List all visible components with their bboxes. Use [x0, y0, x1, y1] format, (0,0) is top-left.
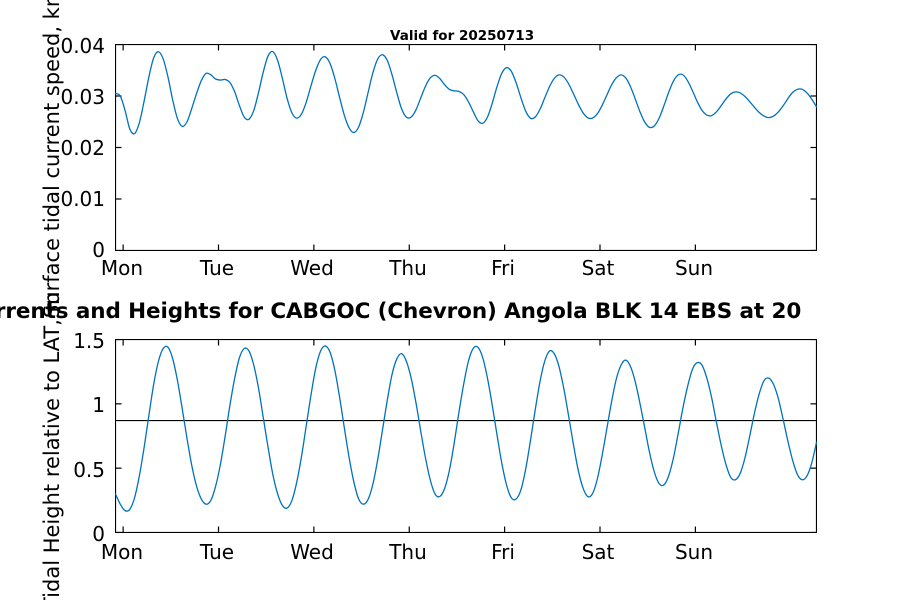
bottom-xtick-sun: Sun [654, 540, 734, 564]
top-xtick-thu: Thu [368, 256, 448, 280]
bottom-xtick-fri: Fri [463, 540, 543, 564]
bottom-ytick-0.5: 0.5 [30, 458, 105, 482]
top-series-line [116, 52, 817, 134]
top-xtick-fri: Fri [463, 256, 543, 280]
top-axis-ticks [116, 45, 817, 251]
top-xtick-sat: Sat [558, 256, 638, 280]
bottom-xtick-sat: Sat [558, 540, 638, 564]
bottom-chart-plot-area [115, 339, 817, 533]
bottom-chart-panel: 1.5 1 0.5 0 Mon Tue Wed Thu Fri Sat Sun [0, 300, 900, 600]
top-chart-panel: Valid for 20250713 0.04 0.03 0.02 0.01 0… [0, 0, 900, 290]
top-xtick-mon: Mon [82, 256, 162, 280]
top-chart-ylabel: Surface tidal current speed, kn [40, 0, 64, 318]
figure-canvas: Valid for 20250713 0.04 0.03 0.02 0.01 0… [0, 0, 900, 600]
top-xtick-tue: Tue [177, 256, 257, 280]
top-xtick-sun: Sun [654, 256, 734, 280]
bottom-xtick-thu: Thu [368, 540, 448, 564]
bottom-series-line [116, 346, 817, 511]
bottom-axis-ticks [116, 340, 817, 533]
top-xtick-wed: Wed [272, 256, 352, 280]
top-chart-plot-area [115, 44, 817, 251]
bottom-xtick-tue: Tue [177, 540, 257, 564]
bottom-ytick-1.5: 1.5 [30, 329, 105, 353]
bottom-xtick-mon: Mon [82, 540, 162, 564]
bottom-ytick-1: 1 [30, 393, 105, 417]
top-chart-title: Valid for 20250713 [390, 28, 534, 44]
bottom-xtick-wed: Wed [272, 540, 352, 564]
